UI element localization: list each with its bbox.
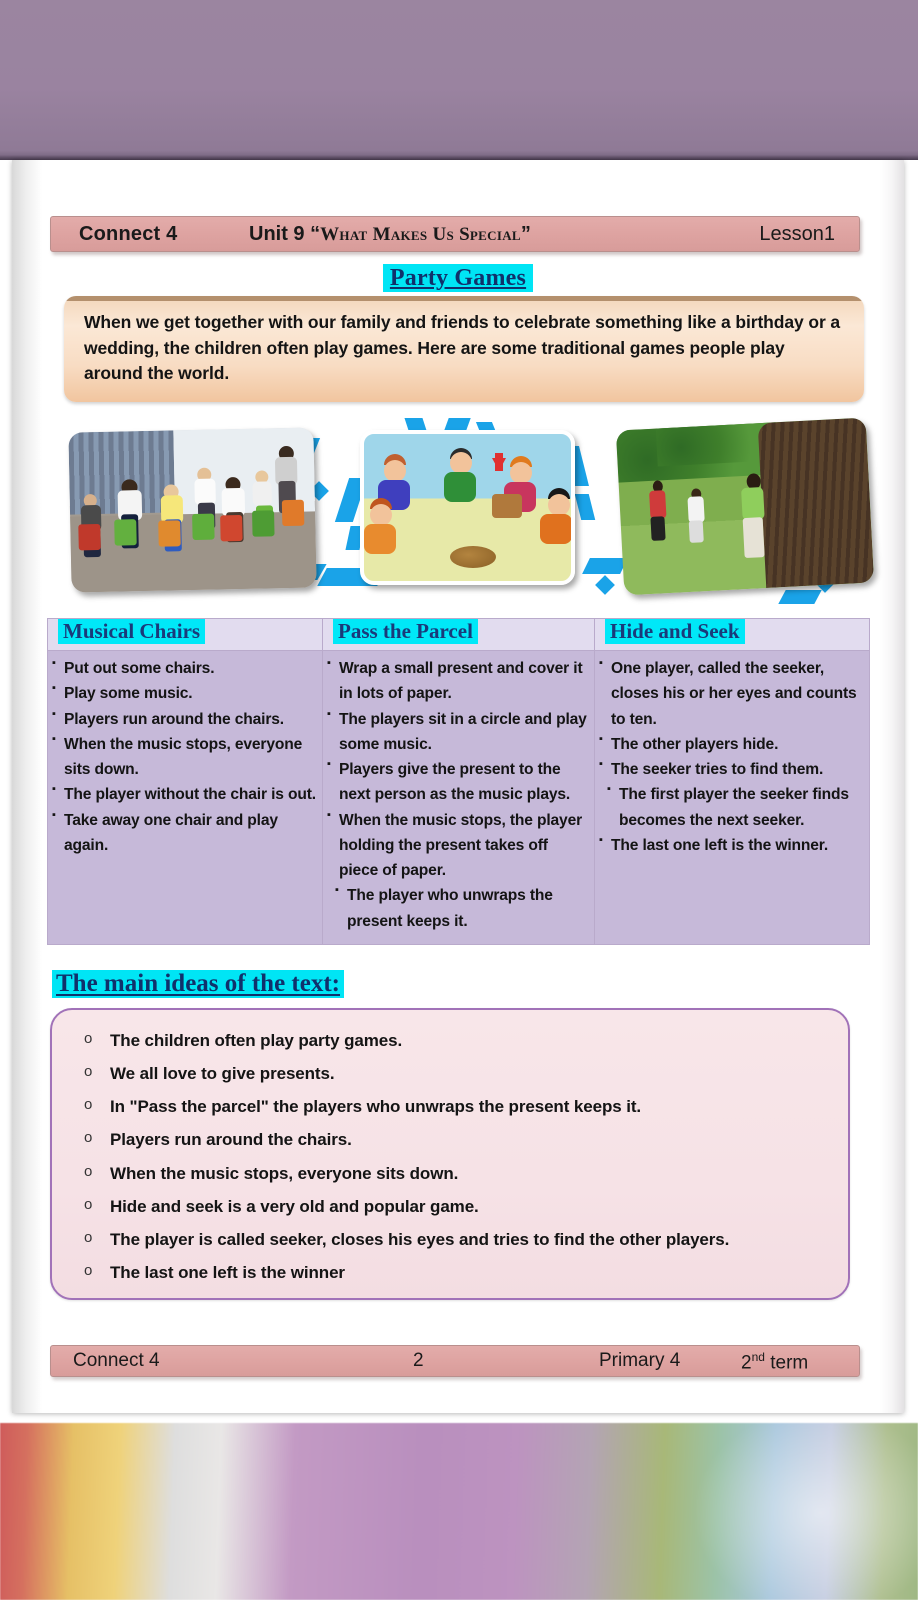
main-ideas-heading-wrap: The main ideas of the text: xyxy=(52,970,344,998)
header-unit-label: Unit 9 “What Makes Us Special” xyxy=(249,223,531,246)
main-idea-item: Players run around the chairs. xyxy=(74,1123,826,1156)
main-idea-item: We all love to give presents. xyxy=(74,1057,826,1090)
main-idea-item: When the music stops, everyone sits down… xyxy=(74,1157,826,1190)
column-title-hide-and-seek: Hide and Seek xyxy=(605,619,745,644)
list-item: Players run around the chairs. xyxy=(52,707,316,732)
list-item: Play some music. xyxy=(52,681,316,706)
main-idea-item: Hide and seek is a very old and popular … xyxy=(74,1190,826,1223)
column-title-musical-chairs: Musical Chairs xyxy=(58,619,205,644)
main-ideas-heading: The main ideas of the text: xyxy=(52,970,344,998)
main-ideas-box: The children often play party games. We … xyxy=(50,1008,850,1300)
header-course-label: Connect 4 xyxy=(79,223,177,246)
intro-callout-box: When we get together with our family and… xyxy=(64,296,864,402)
table-header-row: Musical Chairs Pass the Parcel Hide and … xyxy=(48,619,870,651)
footer-term-number: 2 xyxy=(741,1352,752,1373)
musical-chairs-list: Put out some chairs. Play some music. Pl… xyxy=(52,656,316,858)
header-unit-title: What Makes Us Special xyxy=(320,224,521,245)
list-item: Wrap a small present and cover it in lot… xyxy=(327,656,588,707)
list-item: Players give the present to the next per… xyxy=(327,757,588,808)
worksheet-sheet: Connect 4 Unit 9 “What Makes Us Special”… xyxy=(12,160,904,1413)
list-item: The last one left is the winner. xyxy=(599,833,863,858)
list-item: The first player the seeker finds become… xyxy=(599,782,863,833)
intro-paragraph: When we get together with our family and… xyxy=(84,310,846,387)
header-unit-suffix: ” xyxy=(521,223,531,245)
table-cell-pass-the-parcel: Wrap a small present and cover it in lot… xyxy=(323,651,595,945)
desk-backdrop-bottom xyxy=(0,1423,918,1600)
pass-the-parcel-photo xyxy=(360,430,575,585)
hide-and-seek-list: One player, called the seeker, closes hi… xyxy=(599,656,863,858)
main-idea-item: The player is called seeker, closes his … xyxy=(74,1223,826,1256)
footer-grade-label: Primary 4 xyxy=(599,1350,680,1372)
table-header-cell-1: Musical Chairs xyxy=(48,619,323,651)
footer-page-number: 2 xyxy=(413,1350,424,1372)
list-item: The players sit in a circle and play som… xyxy=(327,707,588,758)
list-item: One player, called the seeker, closes hi… xyxy=(599,656,863,732)
list-item: When the music stops, the player holding… xyxy=(327,808,588,884)
list-item: When the music stops, everyone sits down… xyxy=(52,732,316,783)
page-title: Party Games xyxy=(383,264,533,292)
footer-term-suffix: nd xyxy=(752,1350,765,1364)
list-item: Take away one chair and play again. xyxy=(52,808,316,859)
photo-strip xyxy=(12,418,904,618)
main-idea-item: In "Pass the parcel" the players who unw… xyxy=(74,1090,826,1123)
footer-term-label: 2nd term xyxy=(741,1350,808,1374)
table-cell-musical-chairs: Put out some chairs. Play some music. Pl… xyxy=(48,651,323,945)
worksheet-header-bar: Connect 4 Unit 9 “What Makes Us Special”… xyxy=(50,216,860,252)
main-idea-item: The children often play party games. xyxy=(74,1024,826,1057)
footer-term-word: term xyxy=(770,1352,808,1373)
header-lesson-label: Lesson1 xyxy=(759,223,835,246)
musical-chairs-photo xyxy=(68,427,316,592)
header-unit-prefix: Unit 9 “ xyxy=(249,223,320,245)
column-title-pass-the-parcel: Pass the Parcel xyxy=(333,619,478,644)
list-item: The player who unwraps the present keeps… xyxy=(327,883,588,934)
table-cell-hide-and-seek: One player, called the seeker, closes hi… xyxy=(595,651,870,945)
table-header-cell-3: Hide and Seek xyxy=(595,619,870,651)
page-title-wrap: Party Games xyxy=(12,264,904,292)
hide-and-seek-photo xyxy=(616,418,874,596)
list-item: The other players hide. xyxy=(599,732,863,757)
table-header-cell-2: Pass the Parcel xyxy=(323,619,595,651)
table-body-row: Put out some chairs. Play some music. Pl… xyxy=(48,651,870,945)
pass-the-parcel-list: Wrap a small present and cover it in lot… xyxy=(327,656,588,934)
main-idea-item: The last one left is the winner xyxy=(74,1256,826,1289)
main-ideas-list: The children often play party games. We … xyxy=(74,1024,826,1289)
worksheet-page: Connect 4 Unit 9 “What Makes Us Special”… xyxy=(0,0,918,1600)
list-item: The player without the chair is out. xyxy=(52,782,316,807)
desk-backdrop-top xyxy=(0,0,918,160)
list-item: Put out some chairs. xyxy=(52,656,316,681)
footer-course-label: Connect 4 xyxy=(73,1350,160,1372)
list-item: The seeker tries to find them. xyxy=(599,757,863,782)
worksheet-footer-bar: Connect 4 2 Primary 4 2nd term xyxy=(50,1345,860,1377)
games-table: Musical Chairs Pass the Parcel Hide and … xyxy=(47,618,870,945)
